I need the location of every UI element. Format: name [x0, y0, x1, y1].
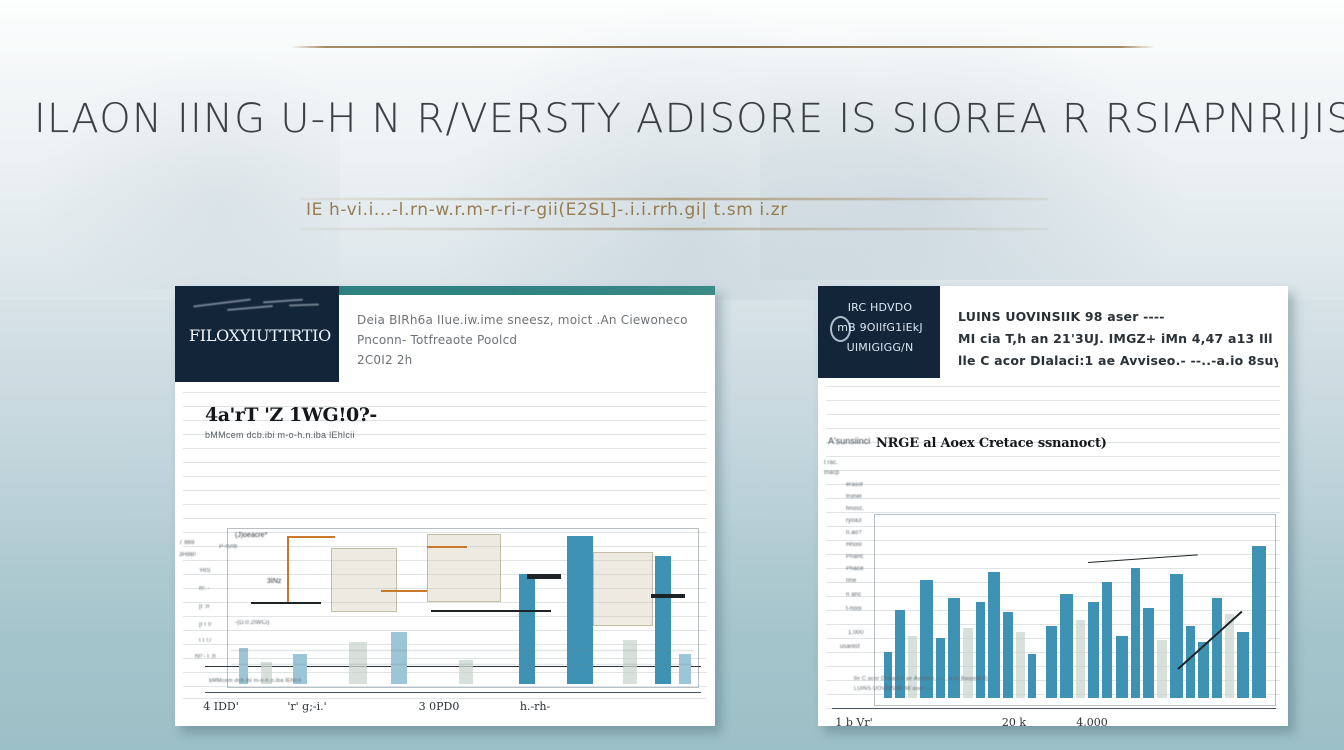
left-y-label: I I !:/	[199, 638, 211, 644]
right-y-label: tronel	[846, 494, 862, 500]
right-y-label: t rac.	[824, 460, 838, 466]
left-y-label: [I I !/	[199, 622, 211, 628]
right-chart-body: A'sunsiinci NRGE al Aoex Cretace ssnanoc…	[818, 378, 1288, 726]
right-y-label: usanlsf	[840, 644, 860, 650]
dark-trace	[431, 610, 551, 612]
smudge-line	[231, 650, 693, 651]
left-y-label: h!: -	[199, 586, 210, 592]
right-y-label: t-nooi	[846, 606, 862, 612]
header-line-1: Deia BIRh6a IIue.iw.ime sneesz, moict .A…	[357, 310, 705, 330]
left-y-label: hI!'- I .h	[195, 654, 216, 660]
right-y-label: 1,000	[848, 630, 864, 636]
right-chart-title-prefix: A'sunsiinci	[828, 436, 874, 446]
left-plot-area	[231, 532, 693, 684]
page-subtitle: IE h-vi.i...-l.rn-w.r.m-r-ri-r-gii(E2SL]…	[306, 200, 866, 226]
left-x-label: h.-rh-	[520, 700, 550, 713]
right-plot-area	[878, 518, 1270, 698]
left-x-axis	[205, 692, 701, 693]
swoosh-logo-icon	[193, 300, 323, 318]
left-y-label: [I :n	[199, 604, 210, 610]
bar	[1060, 594, 1073, 698]
bar	[976, 602, 985, 698]
left-panel-wordmark: FILOXYIUTTRTIO G	[189, 326, 335, 345]
right-slide-panel[interactable]: IRC HDVDO mB 9OIlfG1iEkJ UIMIGIGG/N LUIN…	[818, 286, 1288, 726]
subtitle-divider-bottom	[300, 228, 1048, 230]
right-y-label: ryoa3	[846, 518, 862, 524]
left-panel-sidebar: FILOXYIUTTRTIO G	[175, 286, 339, 382]
sidebar-line-2: mB 9OIlfG1iEkJ	[826, 318, 934, 338]
bar	[519, 574, 535, 684]
sidebar-line-1: IRC HDVDO	[826, 298, 934, 318]
left-y-label: 7 888	[179, 540, 195, 546]
left-footnote: bMMcem dcb.ibi m-o-h.n.iba lEhlcii	[209, 678, 679, 684]
right-y-label: erasol	[846, 482, 863, 488]
overlay-box	[331, 548, 397, 612]
right-x-label: 4,000	[1076, 716, 1108, 726]
left-chart-body: 4a'rT 'Z 1WG!0?- bMMcem dcb.ibi m-o-h.n.…	[175, 382, 715, 726]
orange-trace	[381, 590, 427, 592]
bar	[679, 654, 691, 684]
right-y-label: Pnanc	[846, 554, 864, 560]
left-chart-title: 4a'rT 'Z 1WG!0?-	[205, 404, 505, 426]
right-x-label: 20 k	[1002, 716, 1026, 726]
bar	[1143, 608, 1154, 698]
right-y-label: n anc	[846, 592, 861, 598]
background-haze	[430, 0, 950, 300]
right-y-label: nne	[846, 578, 856, 584]
left-slide-panel[interactable]: FILOXYIUTTRTIO G Deia BIRh6a IIue.iw.ime…	[175, 286, 715, 726]
right-y-label: Hnosl	[846, 542, 862, 548]
bar	[1088, 602, 1099, 698]
left-panel-header: Deia BIRh6a IIue.iw.ime sneesz, moict .A…	[357, 310, 705, 370]
header-line-1: LUINS UOVINSIIK 98 aser ----	[958, 306, 1278, 328]
header-divider-top	[291, 46, 1155, 48]
orange-trace	[287, 536, 289, 604]
overlay-box	[593, 552, 653, 626]
right-x-axis	[832, 708, 1276, 709]
bar	[895, 610, 905, 698]
overlay-box	[427, 534, 501, 602]
header-line-3: 2C0I2 2h	[357, 350, 705, 370]
right-x-label: 1 b Vr'	[835, 716, 872, 726]
orange-trace	[427, 546, 467, 548]
right-chart-title: NRGE al Aoex Cretace ssnanoct)	[876, 436, 1176, 451]
left-x-label: 4 IDD'	[203, 700, 239, 713]
right-footnote: lle C acor DIalaci:1 ae Avviseo.- --..-a…	[854, 676, 1264, 682]
bar	[391, 632, 407, 684]
dark-trace	[251, 602, 321, 604]
left-x-label: 'r' g;-i.'	[287, 700, 326, 713]
background-haze	[760, 20, 1180, 280]
right-y-label: tnacp	[824, 470, 839, 476]
left-chart-subtitle: bMMcem dcb.ibi m-o-h.n.iba lEhlcii	[205, 430, 465, 440]
right-footnote: LUINS UOVINSIIK 98 aser ----	[854, 686, 1264, 692]
callout-line	[1088, 554, 1198, 563]
header-line-2: MI cia T,h an 21'3UJ. IMGZ+ iMn 4,47 a13…	[958, 328, 1278, 350]
sidebar-line-3: UIMIGIGG/N	[826, 338, 934, 358]
right-y-label: hnosc.	[846, 506, 864, 512]
header-line-3: lle C acor DIalaci:1 ae Avviseo.- --..-a…	[958, 350, 1278, 372]
orange-trace	[287, 536, 335, 538]
header-line-2: Pnconn- Totfreaote Poolcd	[357, 330, 705, 350]
right-y-label: Pnace	[846, 566, 864, 572]
right-y-label: n.ao?	[846, 530, 862, 536]
right-panel-sidebar: IRC HDVDO mB 9OIlfG1iEkJ UIMIGIGG/N	[818, 286, 940, 378]
bar	[1212, 598, 1222, 698]
dark-trace	[527, 574, 561, 579]
page-title: ILAON IING U-H N R/VERSTY ADISORE IS SIO…	[34, 96, 1344, 142]
bar	[948, 598, 960, 698]
background-haze	[40, 60, 340, 290]
bar	[567, 536, 593, 684]
right-panel-header: LUINS UOVINSIIK 98 aser ---- MI cia T,h …	[958, 306, 1278, 372]
left-y-label: 3H8B!	[179, 552, 196, 558]
smudge-line	[231, 664, 693, 665]
left-x-label: 3 0PD0	[419, 700, 460, 713]
left-y-label: 'HIS	[199, 568, 211, 574]
right-sidebar-lines: IRC HDVDO mB 9OIlfG1iEkJ UIMIGIGG/N	[826, 298, 934, 358]
dark-trace	[651, 594, 685, 598]
